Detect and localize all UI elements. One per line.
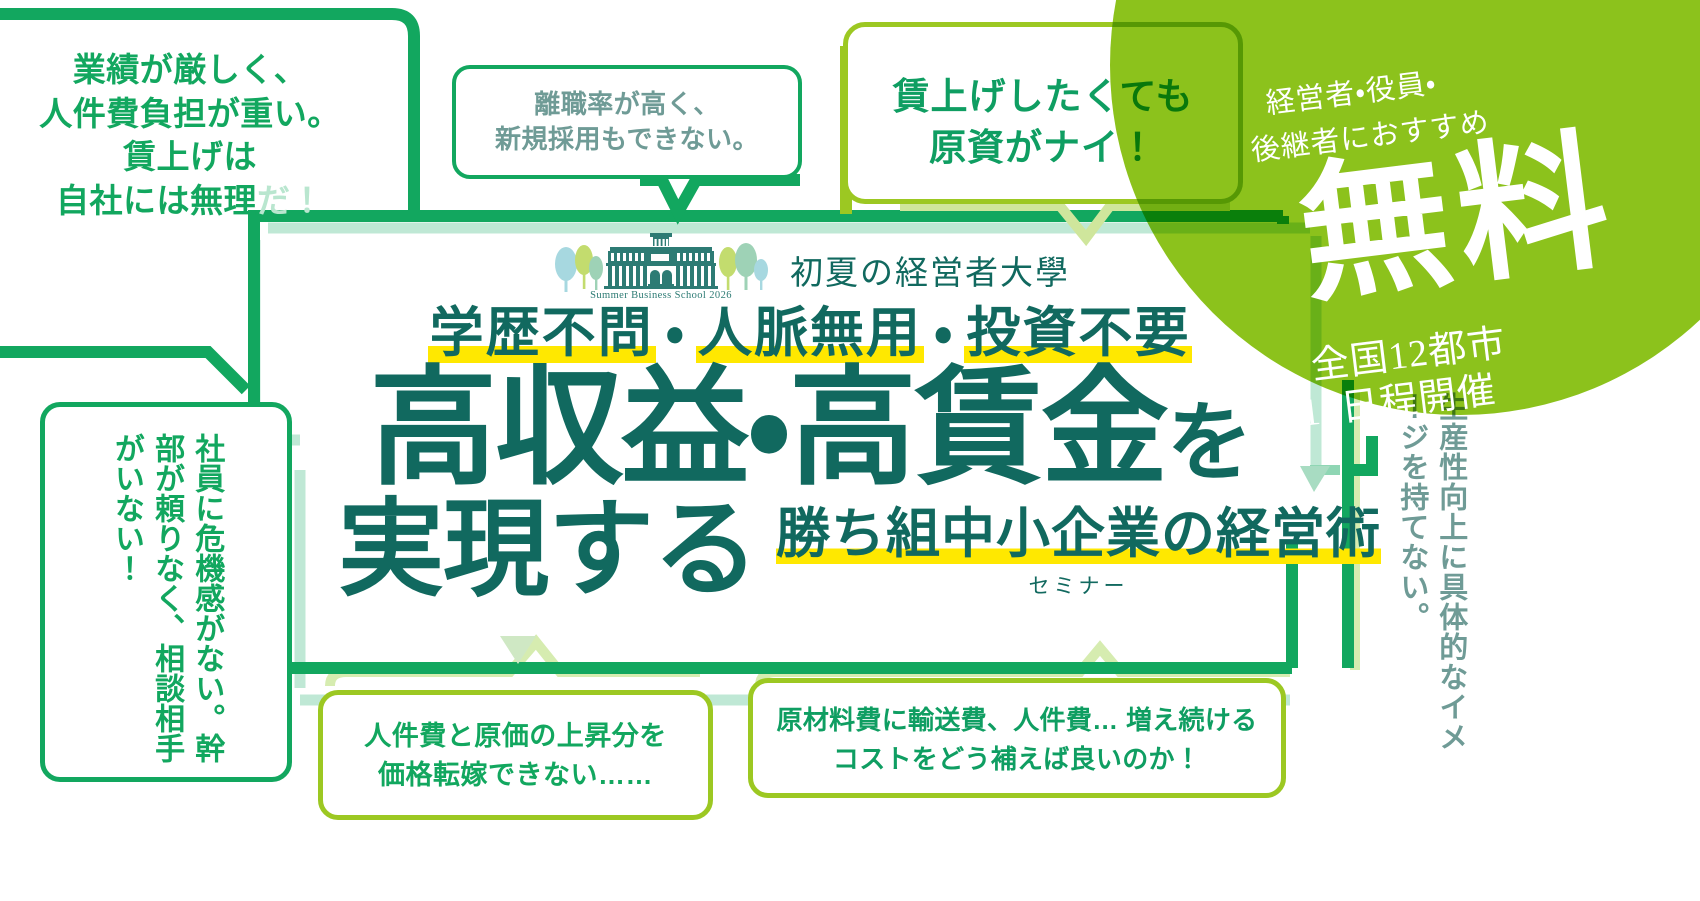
- callout-tl-faded-tail: だ！: [257, 182, 324, 219]
- bubble-cost-line2: コストをどう補えば良いのか！: [753, 740, 1281, 779]
- bubble-price-pass-line2: 価格転嫁できない……: [323, 756, 708, 795]
- subtitle-wrap: 勝ち組中小企業の経営術 セミナー: [776, 489, 1381, 604]
- bubble-left-vertical: 社員に危機感がない。幹部が頼りなく、相談相手がいない！: [40, 402, 292, 782]
- bubble-cost: 原材料費に輸送費、人件費… 増え続ける コストをどう補えば良いのか！: [748, 678, 1286, 798]
- school-building-icon: Summer Business School 2026: [550, 230, 772, 300]
- subtitle: 勝ち組中小企業の経営術: [776, 504, 1381, 564]
- bubble-left-vertical-text: 社員に危機感がない。幹部が頼りなく、相談相手がいない！: [106, 433, 227, 763]
- bubble-turnover-line2: 新規採用もできない。: [456, 122, 798, 157]
- bubble-turnover: 離職率が高く、 新規採用もできない。: [452, 65, 802, 179]
- bubble-price-pass-line1: 人件費と原価の上昇分を: [323, 717, 708, 756]
- logo-row: Summer Business School 2026 初夏の経営者大學: [330, 228, 1290, 300]
- bubble-turnover-text: 離職率が高く、 新規採用もできない。: [456, 69, 798, 157]
- bubble-turnover-line1: 離職率が高く、: [456, 87, 798, 122]
- callout-tl-line4: 自社には無理: [56, 182, 257, 219]
- bubble-cost-line1: 原材料費に輸送費、人件費… 増え続ける: [753, 701, 1281, 740]
- bubble-price-pass: 人件費と原価の上昇分を 価格転嫁できない……: [318, 690, 713, 820]
- callout-tl-line2: 人件費負担が重い。: [20, 92, 360, 136]
- headline-line2: 実現する: [338, 498, 758, 604]
- headline-particle: を: [1167, 395, 1251, 491]
- callout-tl-line3: 賃上げは: [20, 135, 360, 179]
- bubble-cost-text: 原材料費に輸送費、人件費… 増え続ける コストをどう補えば良いのか！: [753, 683, 1281, 779]
- event-name: 初夏の経営者大學: [790, 246, 1070, 300]
- callout-tl-line4-wrap: 自社には無理だ！: [20, 179, 360, 223]
- kicker-part3: 投資不要: [964, 303, 1192, 363]
- kicker-sep1: ・: [656, 303, 696, 363]
- bubble-right-vertical: 生産性向上に具体的なイメージを持てない。: [1392, 392, 1470, 774]
- bubble-right-vertical-text: 生産性向上に具体的なイメージを持てない。: [1392, 392, 1470, 774]
- kicker-line: 学歴不問・人脈無用・投資不要: [330, 304, 1290, 362]
- callout-tl-line1: 業績が厳しく、: [20, 48, 360, 92]
- kicker-part2: 人脈無用: [696, 303, 924, 363]
- headline-main: 高収益・高賃金: [369, 358, 1167, 500]
- headline-line1: 高収益・高賃金を: [330, 364, 1290, 495]
- kicker-part1: 学歴不問: [428, 303, 656, 363]
- hero-block: Summer Business School 2026 初夏の経営者大學 学歴不…: [330, 228, 1290, 604]
- school-mark-caption: Summer Business School 2026: [590, 290, 732, 300]
- poster-canvas: 業績が厳しく、 人件費負担が重い。 賃上げは 自社には無理だ！ 離職率が高く、 …: [0, 0, 1700, 901]
- kicker-sep2: ・: [924, 303, 964, 363]
- headline-line2-row: 実現する 勝ち組中小企業の経営術 セミナー: [330, 489, 1290, 604]
- seminar-label: セミナー: [776, 570, 1381, 600]
- callout-top-left: 業績が厳しく、 人件費負担が重い。 賃上げは 自社には無理だ！: [20, 48, 360, 222]
- bubble-price-pass-text: 人件費と原価の上昇分を 価格転嫁できない……: [323, 695, 708, 795]
